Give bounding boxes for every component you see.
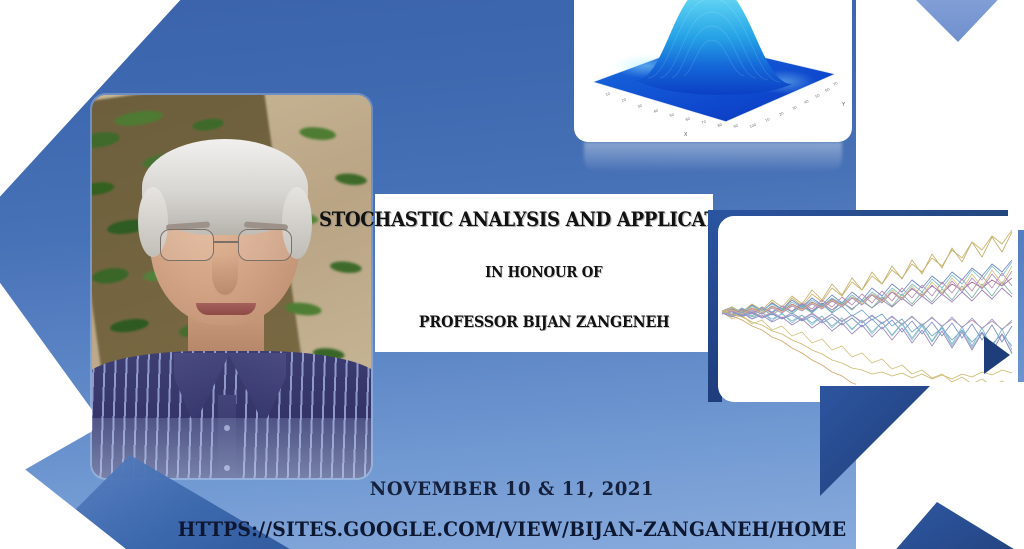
svg-text:90: 90 [733,123,739,129]
surface-xlabel: X [684,132,688,138]
title-card: STOCHASTIC ANALYSIS AND APPLICATIONS IN … [375,194,713,352]
svg-text:60: 60 [825,87,832,93]
svg-text:60: 60 [685,116,691,122]
svg-text:10: 10 [605,91,611,97]
honour-line: IN HONOUR OF [485,264,602,281]
svg-text:20: 20 [779,111,786,117]
svg-text:40: 40 [653,108,659,114]
honouree-name: PROFESSOR BIJAN ZANGENEH [419,312,670,331]
svg-text:70: 70 [833,81,840,87]
photo-lens-right [238,229,292,261]
paths-plot-panel [718,216,1018,402]
svg-text:30: 30 [637,103,643,109]
photo-smile [196,303,256,315]
event-url[interactable]: HTTPS://SITES.GOOGLE.COM/VIEW/BIJAN-ZANG… [20,518,1003,541]
svg-text:10: 10 [765,117,772,123]
photo-lens-left [160,229,214,261]
svg-text:40: 40 [804,99,811,105]
photo-glasses-bridge [214,241,238,243]
svg-text:50: 50 [669,112,675,118]
svg-text:80: 80 [717,122,723,128]
svg-text:70: 70 [701,119,707,125]
photo-nose [212,255,238,295]
surface-plot-chart: 10 20 30 40 50 60 70 80 90 100 10 20 30 … [574,0,852,142]
svg-text:20: 20 [621,97,627,103]
svg-text:30: 30 [792,105,799,111]
svg-text:50: 50 [815,93,822,99]
event-date: NOVEMBER 10 & 11, 2021 [26,478,999,500]
surface-plot-reflection [584,142,842,172]
svg-text:100: 100 [749,123,757,129]
brownian-paths-chart [718,216,1018,402]
poster-canvas: 10 20 30 40 50 60 70 80 90 100 10 20 30 … [0,0,1024,549]
surface-ylabel: Y [841,102,846,108]
surface-plot-panel: 10 20 30 40 50 60 70 80 90 100 10 20 30 … [574,0,852,142]
page-title: STOCHASTIC ANALYSIS AND APPLICATIONS [319,208,770,231]
portrait-photo [92,95,371,478]
